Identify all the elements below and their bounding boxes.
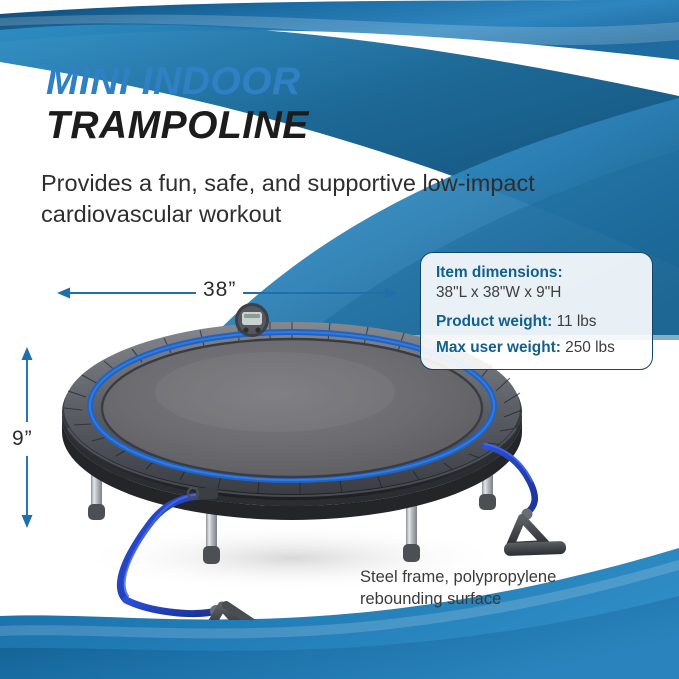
dimension-label-height: 9” <box>10 422 35 456</box>
page-subtitle: Provides a fun, safe, and supportive low… <box>41 168 641 230</box>
spec-max-user-weight-value: 250 lbs <box>565 339 615 356</box>
spec-dimensions-label: Item dimensions: <box>436 263 639 283</box>
caption-material: Steel frame, polypropylene rebounding su… <box>360 566 610 610</box>
band-handle-right <box>504 509 566 557</box>
headline-block: MINI INDOOR TRAMPOLINE <box>46 60 606 148</box>
spec-max-user-weight-label: Max user weight: <box>436 339 561 356</box>
band-handle-left <box>205 605 280 620</box>
spec-product-weight-value: 11 lbs <box>557 313 597 330</box>
page-title-secondary: TRAMPOLINE <box>46 104 606 148</box>
spec-row-product-weight: Product weight: 11 lbs <box>436 312 639 332</box>
spec-dimensions-value: 38"L x 38"W x 9"H <box>436 283 639 303</box>
page-title-primary: MINI INDOOR <box>46 60 606 104</box>
spec-product-weight-label: Product weight: <box>436 313 552 330</box>
jump-counter-icon <box>235 303 269 337</box>
dimension-label-width: 38” <box>196 278 243 302</box>
infographic-canvas: MINI INDOOR TRAMPOLINE Provides a fun, s… <box>0 0 679 679</box>
spec-box: Item dimensions: 38"L x 38"W x 9"H Produ… <box>420 252 653 370</box>
spec-row-max-user-weight: Max user weight: 250 lbs <box>436 338 639 358</box>
spec-row-dimensions: Item dimensions: 38"L x 38"W x 9"H <box>436 263 639 303</box>
